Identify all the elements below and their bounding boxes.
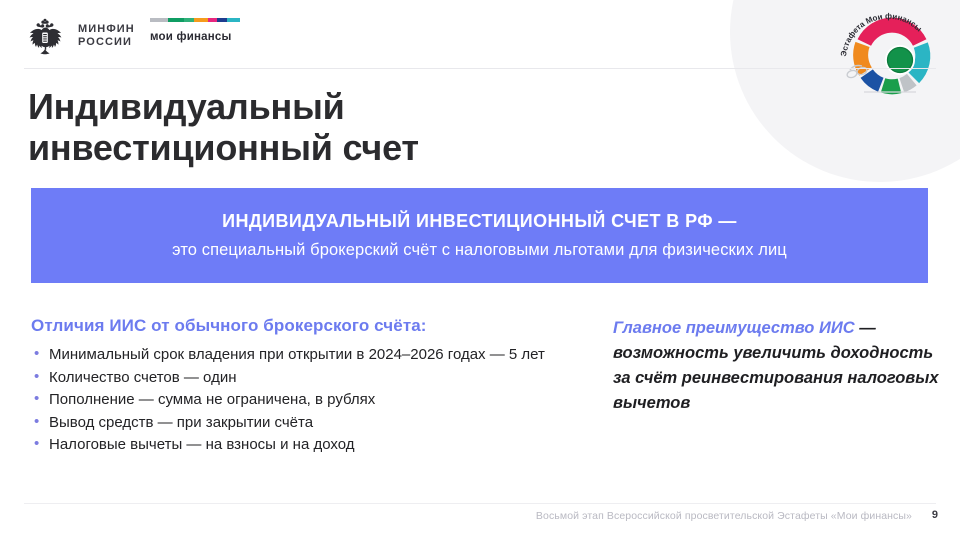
list-item: Пополнение — сумма не ограничена, в рубл… <box>31 389 576 411</box>
minfin-logo-line2: РОССИИ <box>78 36 135 49</box>
page-number: 9 <box>932 509 938 521</box>
main-advantage-callout: Главное преимущество ИИС — возможность у… <box>613 316 943 416</box>
list-item: Налоговые вычеты — на взносы и на доход <box>31 434 576 456</box>
page-title-line1: Индивидуальный <box>28 86 345 127</box>
page-title: Индивидуальный инвестиционный счет <box>28 86 668 168</box>
footer-caption: Восьмой этап Всероссийской просветительс… <box>536 510 912 522</box>
definition-banner: ИНДИВИДУАЛЬНЫЙ ИНВЕСТИЦИОННЫЙ СЧЕТ В РФ … <box>31 188 928 283</box>
minfin-logo-line1: МИНФИН <box>78 23 135 36</box>
list-item: Вывод средств — при закрытии счёта <box>31 412 576 434</box>
minfin-logo-lockup: МИНФИН РОССИИ <box>22 16 135 56</box>
differences-heading: Отличия ИИС от обычного брокерского счёт… <box>31 316 576 336</box>
moi-finansy-color-bar <box>150 18 240 22</box>
moi-finansy-logo-text: мои финансы <box>150 31 242 43</box>
main-advantage-accent: Главное преимущество ИИС <box>613 319 855 337</box>
header-divider <box>24 68 936 69</box>
moi-finansy-logo-lockup: мои финансы <box>150 18 242 43</box>
russia-coat-of-arms-eagle-icon <box>22 16 68 56</box>
page-title-line2: инвестиционный счет <box>28 127 419 168</box>
list-item: Минимальный срок владения при открытии в… <box>31 344 576 366</box>
estafeta-moi-finansy-emblem-icon: Эстафета Мои финансы <box>832 4 942 100</box>
definition-banner-subtext: это специальный брокерский счёт с налого… <box>172 241 787 260</box>
definition-banner-heading: ИНДИВИДУАЛЬНЫЙ ИНВЕСТИЦИОННЫЙ СЧЕТ В РФ … <box>222 211 737 232</box>
list-item: Количество счетов — один <box>31 367 576 389</box>
minfin-logo-text: МИНФИН РОССИИ <box>78 23 135 49</box>
footer-divider <box>24 503 936 504</box>
differences-section: Отличия ИИС от обычного брокерского счёт… <box>31 316 576 457</box>
slide-canvas: МИНФИН РОССИИ мои финансы <box>0 0 960 540</box>
slide-header: МИНФИН РОССИИ мои финансы <box>0 0 960 68</box>
differences-bullet-list: Минимальный срок владения при открытии в… <box>31 344 576 456</box>
